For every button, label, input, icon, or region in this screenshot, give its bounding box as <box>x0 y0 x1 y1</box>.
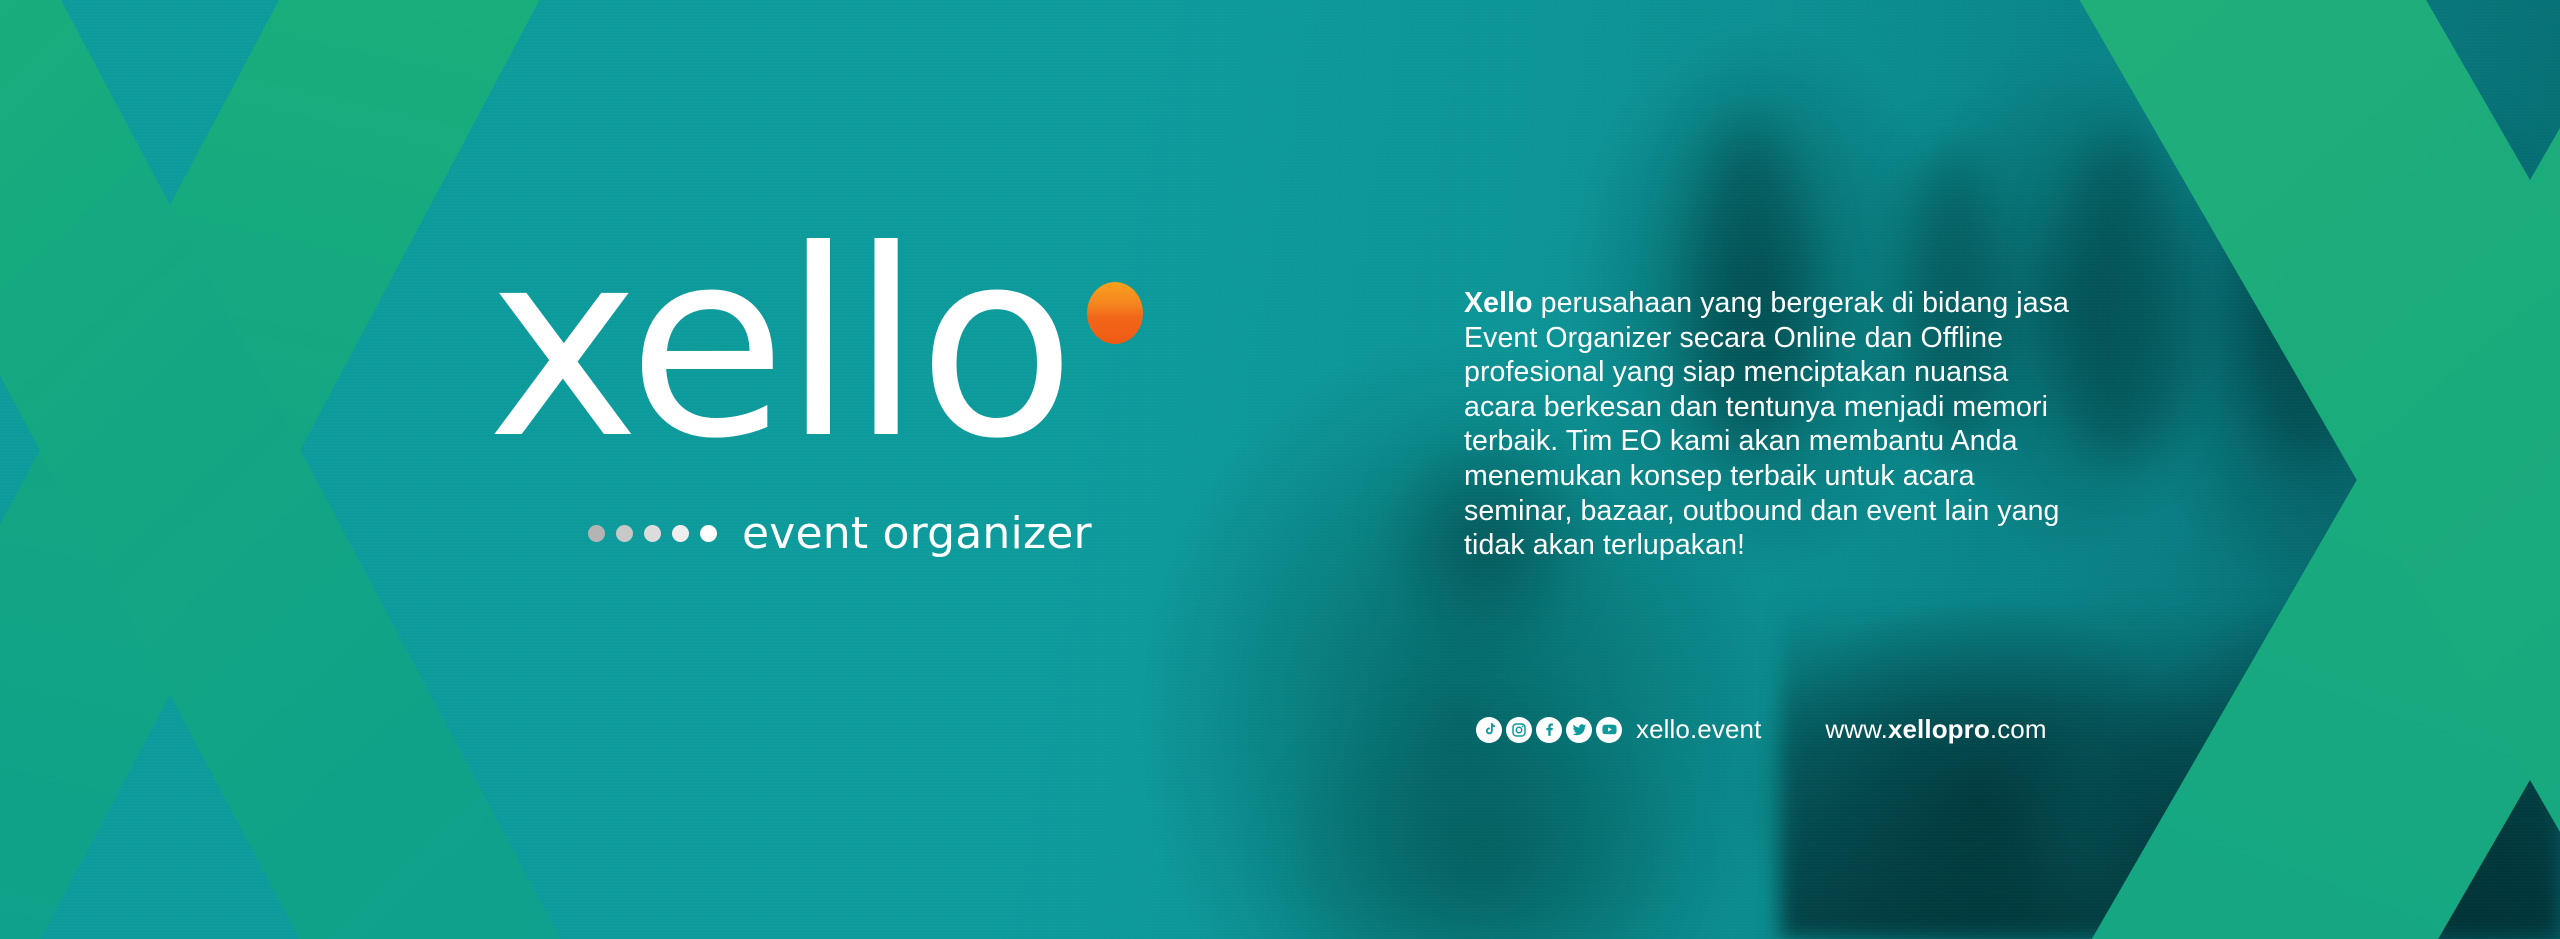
logo-dot-2 <box>616 525 633 542</box>
logo-tagline-row: event organizer <box>588 508 1092 559</box>
website-url[interactable]: www.xellopro.com <box>1825 714 2046 745</box>
footer-contact-row: xello.event www.xellopro.com <box>1476 714 2047 745</box>
brand-x-shape-right <box>2030 0 2560 939</box>
logo-dot-5 <box>700 525 717 542</box>
twitter-icon[interactable] <box>1566 717 1592 743</box>
website-brand: xellopro <box>1888 714 1990 744</box>
logo-dots-group <box>588 525 717 542</box>
description-lead: Xello <box>1464 287 1533 319</box>
orange-dot-icon <box>1087 282 1143 344</box>
website-suffix: .com <box>1990 714 2047 744</box>
website-prefix: www. <box>1825 714 1888 744</box>
instagram-icon[interactable] <box>1506 717 1532 743</box>
logo-tagline: event organizer <box>742 508 1092 559</box>
description-body: perusahaan yang bergerak di bidang jasa … <box>1464 287 2069 561</box>
company-description: Xello perusahaan yang bergerak di bidang… <box>1464 286 2074 563</box>
logo-dot-1 <box>588 525 605 542</box>
facebook-icon[interactable] <box>1536 717 1562 743</box>
description-paragraph: Xello perusahaan yang bergerak di bidang… <box>1464 286 2074 563</box>
social-handle[interactable]: xello.event <box>1636 714 1761 745</box>
xello-banner: xello event organizer Xello perusahaan y… <box>0 0 2560 939</box>
logo-dot-3 <box>644 525 661 542</box>
social-icons-group <box>1476 717 1622 743</box>
youtube-icon[interactable] <box>1596 717 1622 743</box>
logo-dot-4 <box>672 525 689 542</box>
logo-wordmark: xello <box>487 216 1072 474</box>
tiktok-icon[interactable] <box>1476 717 1502 743</box>
xello-logo: xello event organizer <box>487 280 1187 580</box>
